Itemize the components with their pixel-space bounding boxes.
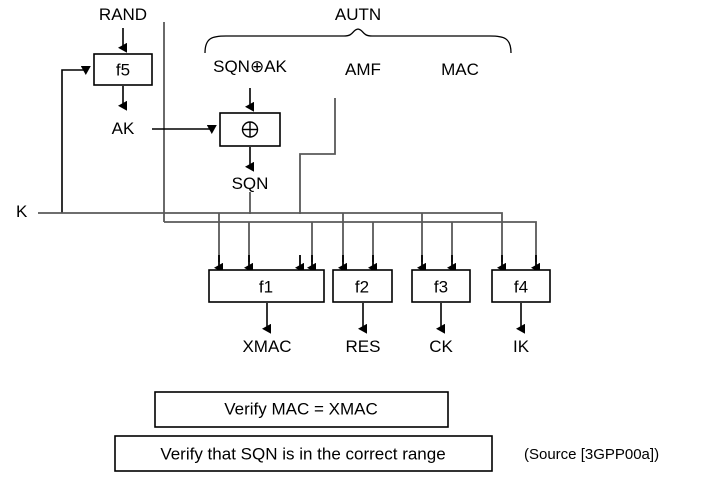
- fbox-output-arrows: [267, 303, 521, 329]
- autn-brace-label: AUTN: [335, 6, 381, 23]
- sqn-xor-ak-field-label: SQN⊕AK: [213, 58, 287, 75]
- fbox-input-arrows: [219, 255, 536, 268]
- bus-drop-lines: [219, 213, 452, 262]
- f1-box-label: f1: [259, 279, 273, 296]
- mac-field-label: MAC: [441, 61, 479, 78]
- ck-output-label: CK: [429, 338, 453, 355]
- f4-box-label: f4: [514, 279, 528, 296]
- res-output-label: RES: [346, 338, 381, 355]
- k-input-label: K: [16, 203, 27, 220]
- verify-mac-box-label: Verify MAC = XMAC: [224, 401, 378, 418]
- autn-brace: [205, 29, 511, 53]
- ak-label: AK: [112, 120, 135, 137]
- amf-route-line: [300, 98, 335, 214]
- sqn-label: SQN: [232, 175, 269, 192]
- ik-output-label: IK: [513, 338, 529, 355]
- f5-box-label: f5: [116, 62, 130, 79]
- amf-field-label: AMF: [345, 61, 381, 78]
- diagram-canvas: RAND K AUTN SQN⊕AK AMF MAC f5 f1 f2 f3 f…: [0, 0, 712, 482]
- xmac-output-label: XMAC: [242, 338, 291, 355]
- k-bus-line: [38, 213, 502, 262]
- verify-sqn-box-label: Verify that SQN is in the correct range: [160, 446, 445, 463]
- f2-box-label: f2: [355, 279, 369, 296]
- source-note: (Source [3GPP00a]): [524, 447, 659, 462]
- k-to-f5-line: [62, 70, 86, 213]
- rand-input-label: RAND: [99, 6, 147, 23]
- f3-box-label: f3: [434, 279, 448, 296]
